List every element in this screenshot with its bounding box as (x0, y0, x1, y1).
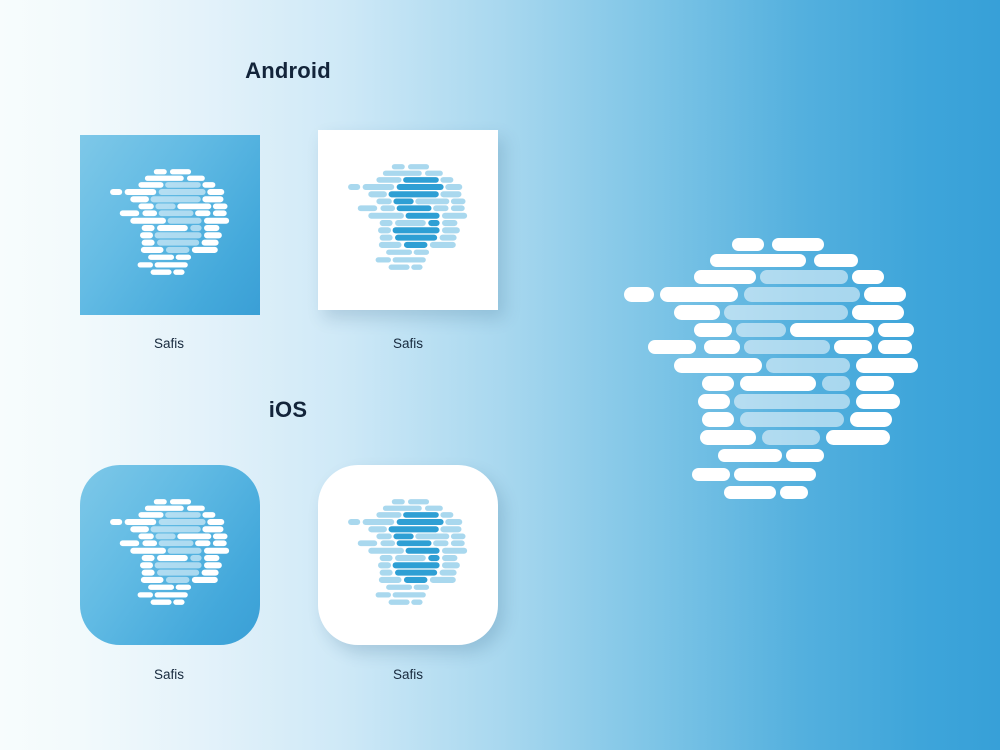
app-icon-caption-android-white: Safis (393, 336, 423, 351)
safis-logo-mark (318, 465, 498, 645)
safis-hero-logo-mark (612, 228, 932, 524)
app-icon-tile-ios-white[interactable] (318, 465, 498, 645)
app-icon-tile-ios-blue[interactable] (80, 465, 260, 645)
safis-logo-mark (80, 465, 260, 645)
app-icon-tile-android-white[interactable] (318, 130, 498, 310)
safis-logo-mark (318, 130, 498, 310)
section-heading-ios: iOS (269, 397, 308, 423)
app-icon-caption-ios-blue: Safis (154, 667, 184, 682)
app-icon-caption-android-blue: Safis (154, 336, 184, 351)
app-icon-caption-ios-white: Safis (393, 667, 423, 682)
section-heading-android: Android (245, 58, 331, 84)
presentation-canvas: Android Safis Safis iOS Safis Safis (0, 0, 1000, 750)
app-icon-tile-android-blue[interactable] (80, 135, 260, 315)
safis-logo-mark (80, 135, 260, 315)
